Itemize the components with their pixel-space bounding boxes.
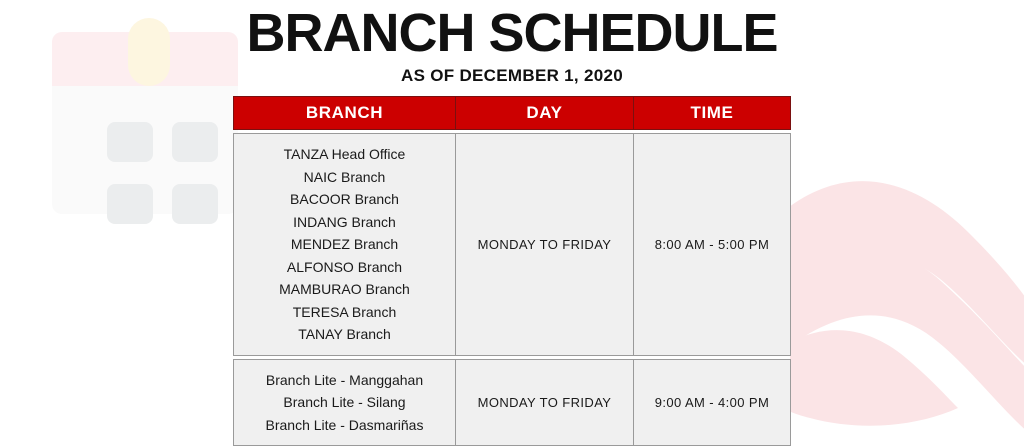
branch-name: TANZA Head Office: [284, 143, 406, 166]
table-row: Branch Lite - Manggahan Branch Lite - Si…: [233, 359, 791, 446]
time-cell: 8:00 AM - 5:00 PM: [633, 134, 790, 355]
table-row: TANZA Head Office NAIC Branch BACOOR Bra…: [233, 133, 791, 356]
page-content: BRANCH SCHEDULE AS OF DECEMBER 1, 2020 B…: [0, 0, 1024, 446]
day-cell: MONDAY TO FRIDAY: [455, 360, 633, 446]
branch-name: ALFONSO Branch: [287, 256, 402, 279]
branch-name: BACOOR Branch: [290, 188, 399, 211]
time-cell: 9:00 AM - 4:00 PM: [633, 360, 790, 446]
branch-list-cell: TANZA Head Office NAIC Branch BACOOR Bra…: [234, 134, 455, 355]
page-subtitle: AS OF DECEMBER 1, 2020: [0, 66, 1024, 86]
day-value: MONDAY TO FRIDAY: [478, 395, 612, 410]
branch-name: Branch Lite - Silang: [283, 391, 405, 414]
day-cell: MONDAY TO FRIDAY: [455, 134, 633, 355]
branch-name: TERESA Branch: [293, 301, 397, 324]
branch-list-cell: Branch Lite - Manggahan Branch Lite - Si…: [234, 360, 455, 446]
day-value: MONDAY TO FRIDAY: [478, 237, 612, 252]
branch-name: INDANG Branch: [293, 211, 396, 234]
time-value: 8:00 AM - 5:00 PM: [655, 237, 769, 252]
schedule-table: BRANCH DAY TIME TANZA Head Office NAIC B…: [233, 96, 791, 446]
column-header-day: DAY: [455, 97, 633, 129]
column-header-time: TIME: [633, 97, 790, 129]
branch-name: Branch Lite - Manggahan: [266, 369, 423, 392]
column-header-branch: BRANCH: [234, 97, 455, 129]
branch-name: Branch Lite - Dasmariñas: [266, 414, 424, 437]
branch-name: MAMBURAO Branch: [279, 278, 410, 301]
branch-name: TANAY Branch: [298, 323, 391, 346]
table-header-row: BRANCH DAY TIME: [233, 96, 791, 130]
branch-name: NAIC Branch: [304, 166, 386, 189]
page-title: BRANCH SCHEDULE: [0, 0, 1024, 62]
branch-name: MENDEZ Branch: [291, 233, 398, 256]
time-value: 9:00 AM - 4:00 PM: [655, 395, 769, 410]
